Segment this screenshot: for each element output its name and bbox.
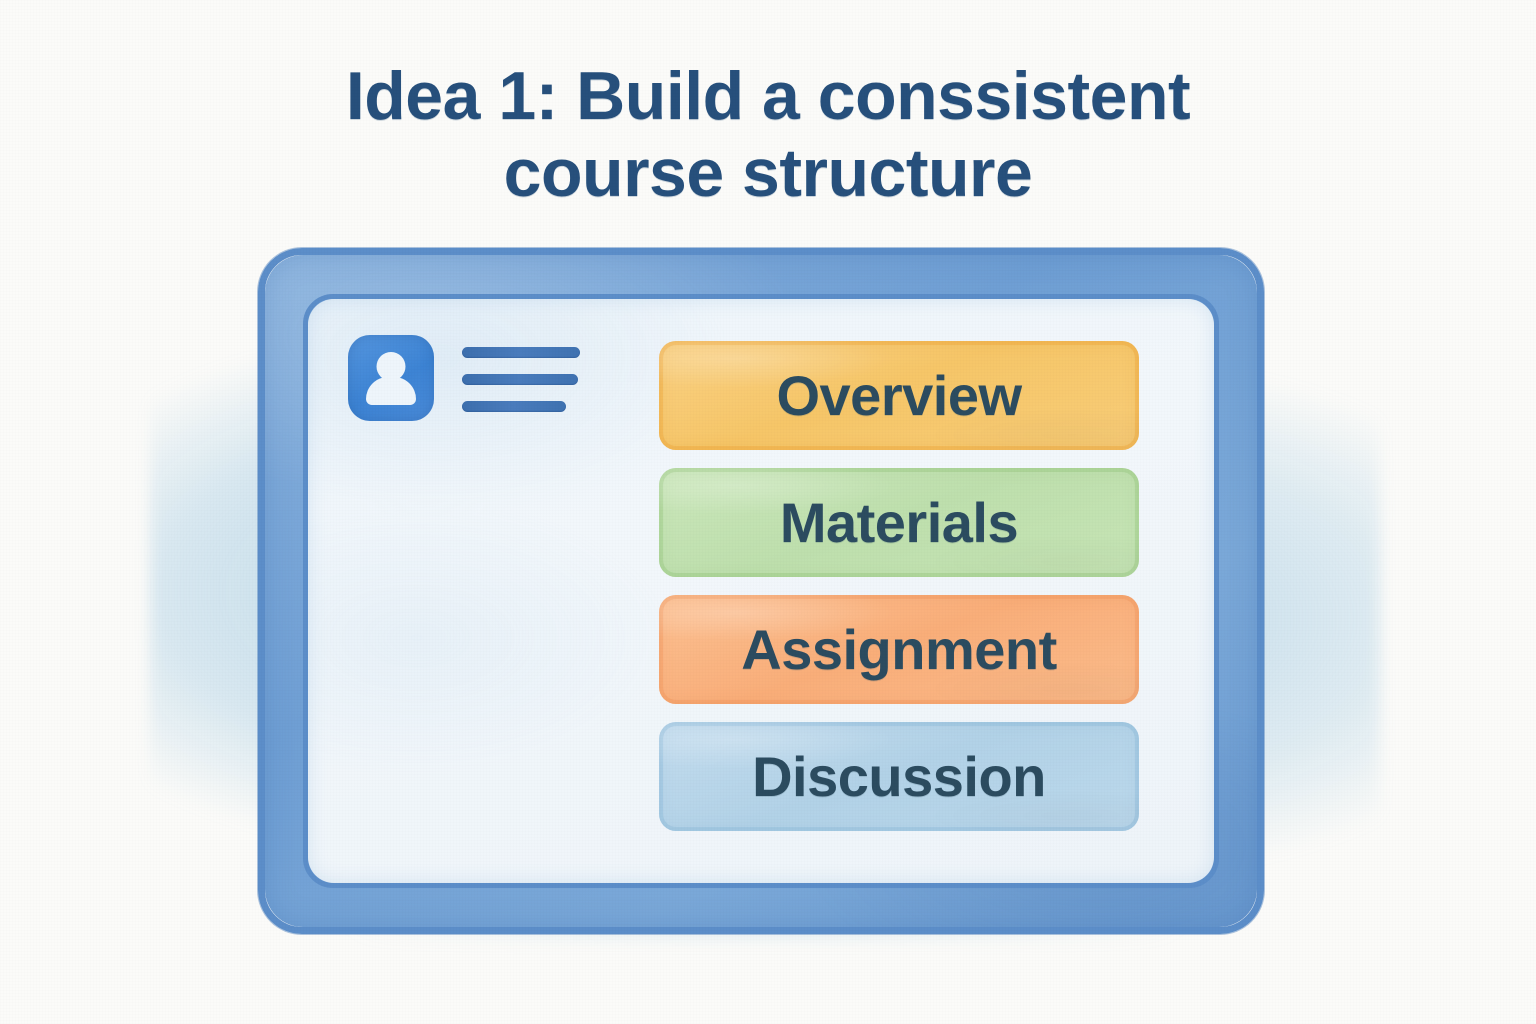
page-title-line-1: Idea 1: Build a conssistent xyxy=(0,58,1536,135)
tablet-screen: Overview Materials Assignment Discussion xyxy=(308,299,1214,883)
nav-button-discussion-label: Discussion xyxy=(752,744,1046,809)
nav-button-assignment[interactable]: Assignment xyxy=(659,595,1139,704)
screen-header xyxy=(348,335,580,421)
avatar-body-shape xyxy=(366,377,416,405)
nav-button-assignment-label: Assignment xyxy=(741,617,1057,682)
header-line-1 xyxy=(462,347,580,358)
nav-button-overview-label: Overview xyxy=(776,363,1021,428)
user-avatar-icon[interactable] xyxy=(348,335,434,421)
nav-button-materials[interactable]: Materials xyxy=(659,468,1139,577)
tablet-device: Overview Materials Assignment Discussion xyxy=(258,248,1264,934)
page-title: Idea 1: Build a conssistent course struc… xyxy=(0,58,1536,212)
nav-button-materials-label: Materials xyxy=(780,490,1018,555)
nav-button-discussion[interactable]: Discussion xyxy=(659,722,1139,831)
course-section-nav-list: Overview Materials Assignment Discussion xyxy=(659,341,1139,831)
page-title-line-2: course structure xyxy=(0,135,1536,212)
header-text-lines xyxy=(462,345,580,412)
header-line-3 xyxy=(462,401,566,412)
header-line-2 xyxy=(462,374,578,385)
nav-button-overview[interactable]: Overview xyxy=(659,341,1139,450)
